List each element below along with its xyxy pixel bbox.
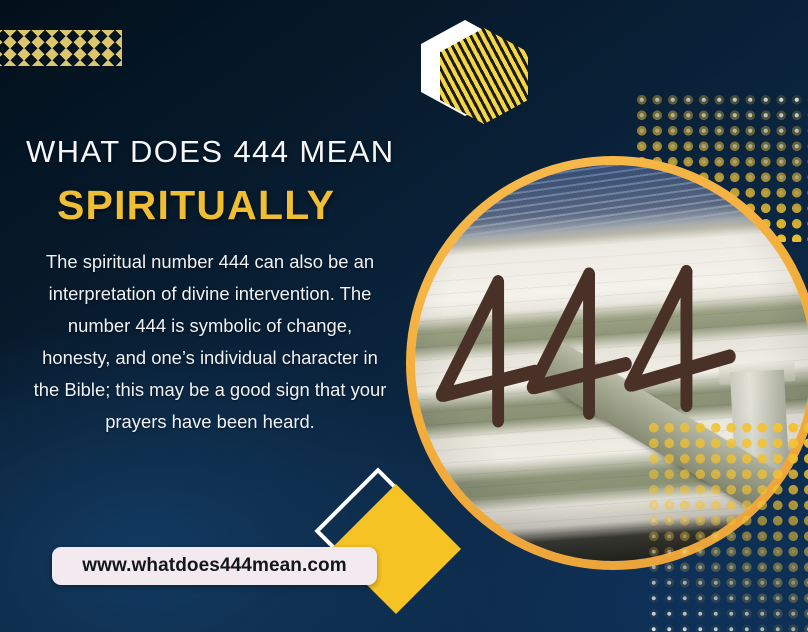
website-url-banner[interactable]: www.whatdoes444mean.com: [52, 547, 377, 585]
photo-ring-border: [406, 156, 808, 570]
poster-canvas: WHAT DOES 444 MEAN SPIRITUALLY The spiri…: [0, 0, 808, 632]
body-paragraph: The spiritual number 444 can also be an …: [32, 246, 388, 438]
page-title: WHAT DOES 444 MEAN: [26, 134, 395, 170]
photo-444-house-numbers: [415, 165, 808, 561]
zigzag-pattern-icon: [0, 30, 122, 66]
photo-vignette: [415, 165, 808, 561]
page-subtitle: SPIRITUALLY: [57, 182, 335, 229]
website-url-text: www.whatdoes444mean.com: [82, 555, 347, 577]
